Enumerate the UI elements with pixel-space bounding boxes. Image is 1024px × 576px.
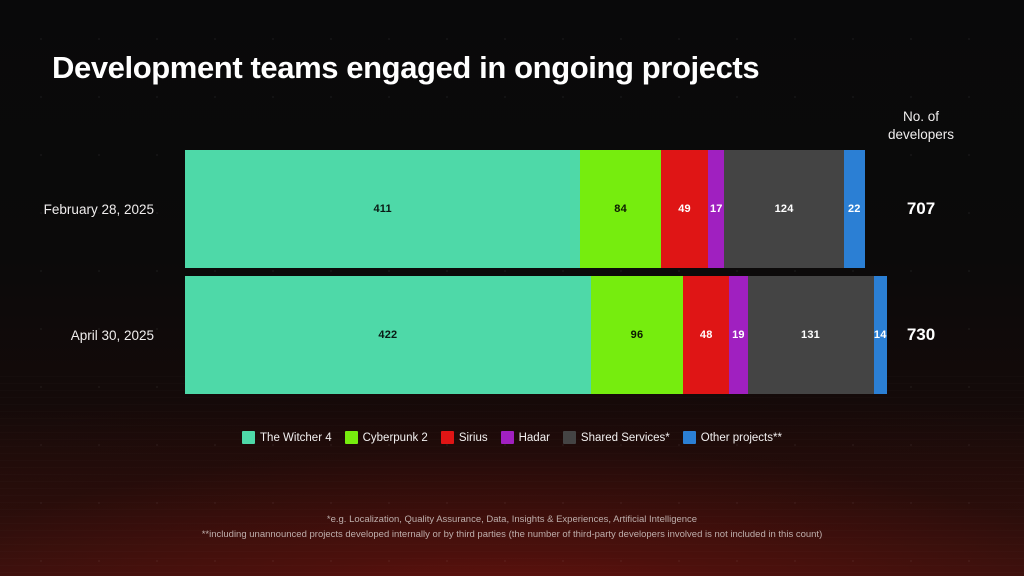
bar-segment[interactable]: 49 bbox=[661, 150, 708, 268]
bar-row-label: April 30, 2025 bbox=[0, 276, 168, 394]
bar-segment-value: 411 bbox=[373, 203, 391, 215]
bar-segment[interactable]: 96 bbox=[591, 276, 683, 394]
legend-item-other_projects[interactable]: Other projects** bbox=[683, 431, 782, 444]
bar-segment-value: 84 bbox=[614, 203, 627, 215]
legend-swatch-icon bbox=[501, 431, 514, 444]
developers-header-line2: developers bbox=[856, 126, 986, 144]
bar-row-label: February 28, 2025 bbox=[0, 150, 168, 268]
bar-segment-value: 124 bbox=[775, 203, 794, 215]
bar-segment-value: 48 bbox=[700, 329, 713, 341]
legend-item-shared_services[interactable]: Shared Services* bbox=[563, 431, 670, 444]
footnotes: *e.g. Localization, Quality Assurance, D… bbox=[0, 512, 1024, 542]
bar-segment-value: 131 bbox=[801, 329, 820, 341]
bar-segment[interactable]: 124 bbox=[724, 150, 843, 268]
bar-track: 41184491712422 bbox=[185, 150, 865, 268]
bar-row-total: 707 bbox=[856, 150, 986, 268]
legend-swatch-icon bbox=[563, 431, 576, 444]
legend-item-label: Shared Services* bbox=[581, 432, 670, 444]
slide-canvas: Development teams engaged in ongoing pro… bbox=[0, 0, 1024, 576]
bar-row-total: 730 bbox=[856, 276, 986, 394]
developers-column-header: No. of developers bbox=[856, 108, 986, 144]
legend-swatch-icon bbox=[345, 431, 358, 444]
bar-segment-value: 17 bbox=[710, 203, 723, 215]
legend-swatch-icon bbox=[683, 431, 696, 444]
legend-item-label: Sirius bbox=[459, 432, 488, 444]
developers-header-line1: No. of bbox=[856, 108, 986, 126]
legend-item-cyberpunk2[interactable]: Cyberpunk 2 bbox=[345, 431, 428, 444]
legend-swatch-icon bbox=[242, 431, 255, 444]
bar-segment-value: 422 bbox=[378, 329, 397, 341]
legend-swatch-icon bbox=[441, 431, 454, 444]
footnote: *e.g. Localization, Quality Assurance, D… bbox=[0, 512, 1024, 527]
bar-track: 42296481913114 bbox=[185, 276, 887, 394]
legend-item-label: The Witcher 4 bbox=[260, 432, 332, 444]
bar-segment-value: 96 bbox=[631, 329, 644, 341]
bar-row: February 28, 202541184491712422707 bbox=[0, 150, 1024, 268]
footnote: **including unannounced projects develop… bbox=[0, 527, 1024, 542]
bar-segment[interactable]: 131 bbox=[748, 276, 874, 394]
bar-segment[interactable]: 17 bbox=[708, 150, 724, 268]
legend-item-label: Other projects** bbox=[701, 432, 782, 444]
bar-segment[interactable]: 422 bbox=[185, 276, 591, 394]
bar-segment[interactable]: 411 bbox=[185, 150, 580, 268]
legend-item-witcher4[interactable]: The Witcher 4 bbox=[242, 431, 332, 444]
bar-segment-value: 19 bbox=[732, 329, 745, 341]
stacked-bar-chart: February 28, 202541184491712422707April … bbox=[0, 150, 1024, 402]
legend-item-label: Cyberpunk 2 bbox=[363, 432, 428, 444]
bar-segment[interactable]: 84 bbox=[580, 150, 661, 268]
legend-item-label: Hadar bbox=[519, 432, 550, 444]
bar-row: April 30, 202542296481913114730 bbox=[0, 276, 1024, 394]
bar-segment[interactable]: 48 bbox=[683, 276, 729, 394]
legend-item-sirius[interactable]: Sirius bbox=[441, 431, 488, 444]
bar-segment[interactable]: 19 bbox=[729, 276, 747, 394]
bar-segment-value: 49 bbox=[678, 203, 691, 215]
page-title: Development teams engaged in ongoing pro… bbox=[52, 50, 759, 86]
legend-item-hadar[interactable]: Hadar bbox=[501, 431, 550, 444]
chart-legend: The Witcher 4Cyberpunk 2SiriusHadarShare… bbox=[0, 431, 1024, 444]
